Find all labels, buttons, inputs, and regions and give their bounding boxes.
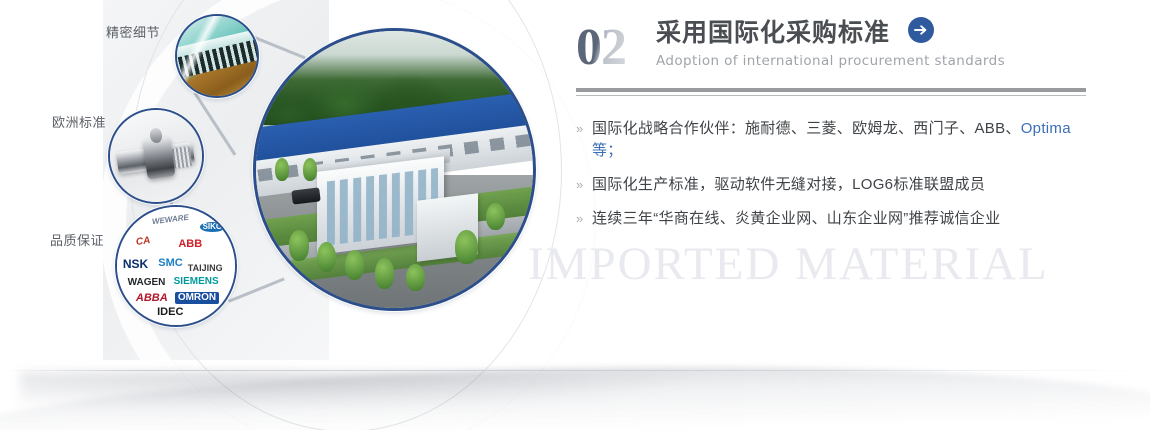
tree-icon xyxy=(303,158,317,180)
brand-logos-photo: WEWARESIKOCAABBNSKSMCTAIJINGWAGENSIEMENS… xyxy=(115,205,237,327)
list-item: » 国际化战略合作伙伴：施耐德、三菱、欧姆龙、西门子、ABB、Optima等； xyxy=(576,118,1086,162)
header-text-block: 采用国际化采购标准 Adoption of international proc… xyxy=(656,20,1005,69)
floor-horizon-line xyxy=(0,370,1150,371)
list-item-text-main: 国际化生产标准，驱动软件无缝对接，LOG6标准联盟成员 xyxy=(592,176,985,193)
ball-screw-photo xyxy=(108,108,204,204)
list-item-text: 连续三年“华商在线、炎黄企业网、山东企业网”推荐诚信企业 xyxy=(592,208,1000,230)
list-item: » 连续三年“华商在线、炎黄企业网、山东企业网”推荐诚信企业 xyxy=(576,208,1086,230)
brand-logo: CA xyxy=(135,236,151,248)
label-quality-assurance: 品质保证 xyxy=(50,230,104,249)
chevron-double-right-icon: » xyxy=(576,118,592,140)
tree-icon xyxy=(345,250,364,280)
brand-logo: SIEMENS xyxy=(174,277,219,287)
page-subtitle: Adoption of international procurement st… xyxy=(656,53,1005,69)
header-divider-thin xyxy=(576,95,1086,96)
factory-building-photo xyxy=(253,28,536,311)
label-precision-detail: 精密细节 xyxy=(106,22,160,41)
brand-logo: IDEC xyxy=(157,307,183,318)
promo-banner: 精密细节 欧洲标准 品质保证 WEWARESIKOCAABBNSKSMCTAIJ… xyxy=(0,0,1150,430)
arrow-right-circle-icon[interactable] xyxy=(908,17,934,43)
tree-icon xyxy=(406,264,425,292)
brand-logo: OMRON xyxy=(175,292,219,304)
section-header: 02 采用国际化采购标准 Adoption of international p… xyxy=(576,22,1096,84)
label-european-standard: 欧洲标准 xyxy=(52,112,106,131)
tree-icon xyxy=(486,203,505,231)
list-item-text-main: 连续三年“华商在线、炎黄企业网、山东企业网”推荐诚信企业 xyxy=(592,210,1000,227)
brand-logo: NSK xyxy=(123,258,148,270)
brand-logo: TAIJING xyxy=(188,264,223,273)
brand-logo: SMC xyxy=(158,258,182,269)
list-item-text: 国际化生产标准，驱动软件无缝对接，LOG6标准联盟成员 xyxy=(592,174,985,196)
gear-rack-detail-photo xyxy=(175,14,259,98)
feature-list: » 国际化战略合作伙伴：施耐德、三菱、欧姆龙、西门子、ABB、Optima等； … xyxy=(576,118,1086,242)
brand-logo: SIKO xyxy=(200,222,226,232)
tree-icon xyxy=(289,230,308,260)
brand-logo: WAGEN xyxy=(128,278,166,288)
header-divider xyxy=(576,88,1086,92)
chevron-double-right-icon: » xyxy=(576,208,592,230)
page-title: 采用国际化采购标准 xyxy=(656,20,890,48)
brand-logo: ABBA xyxy=(136,293,168,304)
watermark-text: IMPORTED MATERIAL xyxy=(528,237,1150,291)
tree-icon xyxy=(375,258,394,288)
screw-nut-shape xyxy=(142,136,175,180)
list-item-text: 国际化战略合作伙伴：施耐德、三菱、欧姆龙、西门子、ABB、Optima等； xyxy=(592,118,1086,162)
screw-thread-shape xyxy=(171,146,192,170)
tree-icon xyxy=(317,242,336,272)
tree-icon xyxy=(275,158,289,180)
tree-icon xyxy=(455,230,477,263)
brand-logo: ABB xyxy=(178,239,202,250)
list-item-text-main: 国际化战略合作伙伴：施耐德、三菱、欧姆龙、西门子、ABB、 xyxy=(592,120,1021,137)
section-number: 02 xyxy=(576,22,626,74)
list-item: » 国际化生产标准，驱动软件无缝对接，LOG6标准联盟成员 xyxy=(576,174,1086,196)
chevron-double-right-icon: » xyxy=(576,174,592,196)
content-column: 02 采用国际化采购标准 Adoption of international p… xyxy=(576,0,1096,430)
